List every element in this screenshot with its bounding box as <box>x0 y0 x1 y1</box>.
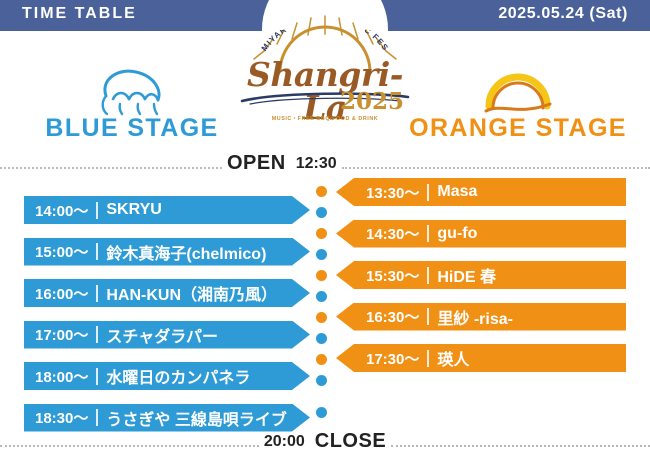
timeline-dot-blue <box>316 207 327 218</box>
orange-stage-item-row[interactable]: 13:30〜Masa <box>336 178 626 206</box>
blue-stage-item-row[interactable]: 18:30〜うさぎや 三線島唄ライブ <box>24 404 310 432</box>
orange-stage-item-row[interactable]: 15:30〜HiDE 春 <box>336 261 626 289</box>
orange-stage-heading: ORANGE STAGE <box>398 62 638 141</box>
sunrise-icon <box>398 62 638 116</box>
blue-stage-item-act: 水曜日のカンパネラ <box>106 364 250 388</box>
cloud-icon <box>12 62 252 116</box>
bar-separator <box>96 202 98 219</box>
bar-separator <box>427 308 429 325</box>
timeline-dot-blue <box>316 333 327 344</box>
timeline-dot-orange <box>316 270 327 281</box>
blue-stage-heading: BLUE STAGE <box>12 62 252 141</box>
page-title: TIME TABLE <box>22 5 137 23</box>
timeline-dot-blue <box>316 291 327 302</box>
blue-stage-item-row[interactable]: 16:00〜HAN-KUN（湘南乃風） <box>24 279 310 307</box>
timeline-dot-blue <box>316 249 327 260</box>
timeline-dot-blue <box>316 407 327 418</box>
event-date: 2025.05.24 (Sat) <box>498 5 628 23</box>
close-dots-right <box>391 445 650 447</box>
open-dots-right <box>342 167 650 169</box>
open-label: OPEN <box>222 152 291 175</box>
blue-stage-item-act: HAN-KUN（湘南乃風） <box>106 281 277 305</box>
orange-stage-item-row[interactable]: 17:30〜瑛人 <box>336 344 626 372</box>
timeline-dot-orange <box>316 312 327 323</box>
orange-stage-item-row[interactable]: 16:30〜里紗 -risa- <box>336 303 626 331</box>
orange-stage-item-act: gu-fo <box>437 225 477 243</box>
blue-stage-item-act: SKRYU <box>106 201 161 219</box>
blue-stage-item-time: 17:00〜 <box>35 324 88 345</box>
bar-separator <box>96 368 98 385</box>
close-time: 20:00 <box>259 433 310 451</box>
bar-separator <box>96 326 98 343</box>
bar-separator <box>427 267 429 284</box>
orange-stage-item-time: 15:30〜 <box>366 265 419 286</box>
blue-stage-item-row[interactable]: 14:00〜SKRYU <box>24 196 310 224</box>
orange-stage-label: ORANGE STAGE <box>398 116 638 141</box>
orange-stage-item-time: 17:30〜 <box>366 348 419 369</box>
orange-stage-item-act: 瑛人 <box>437 346 469 370</box>
bar-separator <box>96 409 98 426</box>
orange-stage-item-time: 14:30〜 <box>366 223 419 244</box>
bar-separator <box>96 285 98 302</box>
bar-separator <box>427 184 429 201</box>
timeline-dot-orange <box>316 186 327 197</box>
blue-stage-item-act: 鈴木真海子(chelmico) <box>106 240 266 264</box>
orange-stage-item-time: 16:30〜 <box>366 306 419 327</box>
blue-stage-item-time: 16:00〜 <box>35 283 88 304</box>
orange-stage-item-act: HiDE 春 <box>437 263 496 287</box>
blue-stage-item-row[interactable]: 17:00〜スチャダラパー <box>24 321 310 349</box>
blue-stage-item-time: 15:00〜 <box>35 241 88 262</box>
blue-stage-item-act: うさぎや 三線島唄ライブ <box>106 406 286 430</box>
orange-stage-item-act: 里紗 -risa- <box>437 305 513 329</box>
orange-stage-item-act: Masa <box>437 183 477 201</box>
close-dots-left <box>0 445 259 447</box>
timeline-dot-blue <box>316 375 327 386</box>
logo-year: 2025 <box>340 88 404 115</box>
orange-stage-item-row[interactable]: 14:30〜gu-fo <box>336 220 626 248</box>
bar-separator <box>427 350 429 367</box>
timeline-dot-orange <box>316 228 327 239</box>
blue-stage-item-row[interactable]: 18:00〜水曜日のカンパネラ <box>24 362 310 390</box>
bar-separator <box>96 243 98 260</box>
blue-stage-item-time: 18:30〜 <box>35 407 88 428</box>
timeline-dot-rail <box>316 0 330 459</box>
blue-stage-label: BLUE STAGE <box>12 116 252 141</box>
bar-separator <box>427 225 429 242</box>
blue-stage-item-act: スチャダラパー <box>106 323 218 347</box>
timeline-dot-orange <box>316 354 327 365</box>
blue-stage-item-time: 14:00〜 <box>35 200 88 221</box>
blue-stage-item-time: 18:00〜 <box>35 366 88 387</box>
orange-stage-item-time: 13:30〜 <box>366 182 419 203</box>
open-dots-left <box>0 167 222 169</box>
blue-stage-item-row[interactable]: 15:00〜鈴木真海子(chelmico) <box>24 238 310 266</box>
